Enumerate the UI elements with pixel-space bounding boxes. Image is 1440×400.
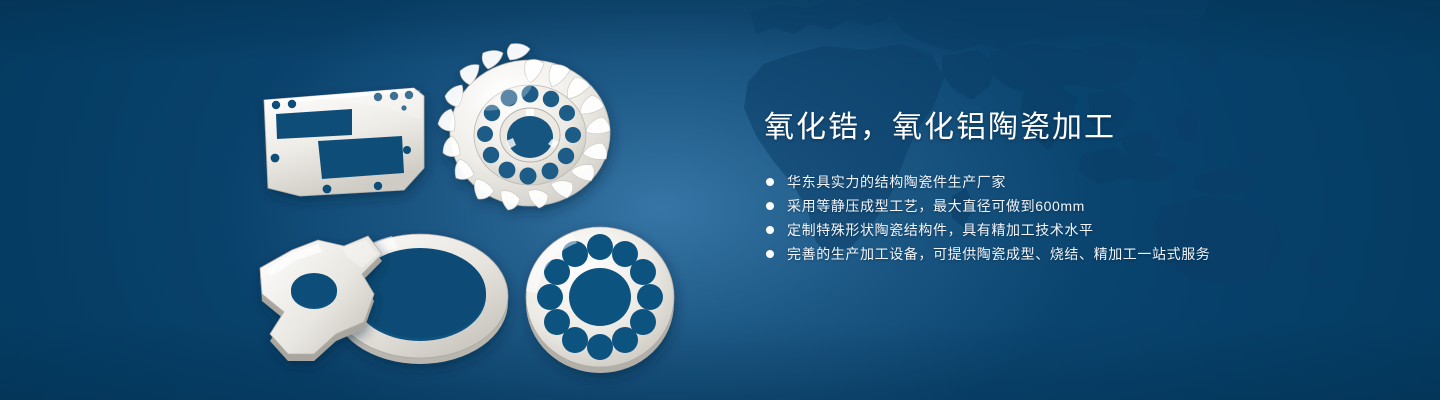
hero-banner: 氧化锆，氧化铝陶瓷加工 华东具实力的结构陶瓷件生产厂家 采用等静压成型工艺，最大… <box>0 0 1440 400</box>
feature-list: 华东具实力的结构陶瓷件生产厂家 采用等静压成型工艺，最大直径可做到600mm 定… <box>764 170 1324 266</box>
page-title: 氧化锆，氧化铝陶瓷加工 <box>764 108 1324 148</box>
list-item-label: 完善的生产加工设备，可提供陶瓷成型、烧结、精加工一站式服务 <box>787 242 1210 266</box>
banner-copy: 氧化锆，氧化铝陶瓷加工 华东具实力的结构陶瓷件生产厂家 采用等静压成型工艺，最大… <box>764 108 1324 266</box>
list-item-label: 采用等静压成型工艺，最大直径可做到600mm <box>787 194 1085 218</box>
bullet-dot-icon <box>766 226 774 234</box>
bullet-dot-icon <box>766 202 774 210</box>
list-item-label: 定制特殊形状陶瓷结构件，具有精加工技术水平 <box>787 218 1094 242</box>
ceramic-products-image <box>0 0 760 400</box>
list-item: 华东具实力的结构陶瓷件生产厂家 <box>764 170 1324 194</box>
bullet-dot-icon <box>766 250 774 258</box>
bullet-dot-icon <box>766 178 774 186</box>
list-item: 完善的生产加工设备，可提供陶瓷成型、烧结、精加工一站式服务 <box>764 242 1324 266</box>
list-item: 采用等静压成型工艺，最大直径可做到600mm <box>764 194 1324 218</box>
list-item: 定制特殊形状陶瓷结构件，具有精加工技术水平 <box>764 218 1324 242</box>
list-item-label: 华东具实力的结构陶瓷件生产厂家 <box>787 170 1006 194</box>
